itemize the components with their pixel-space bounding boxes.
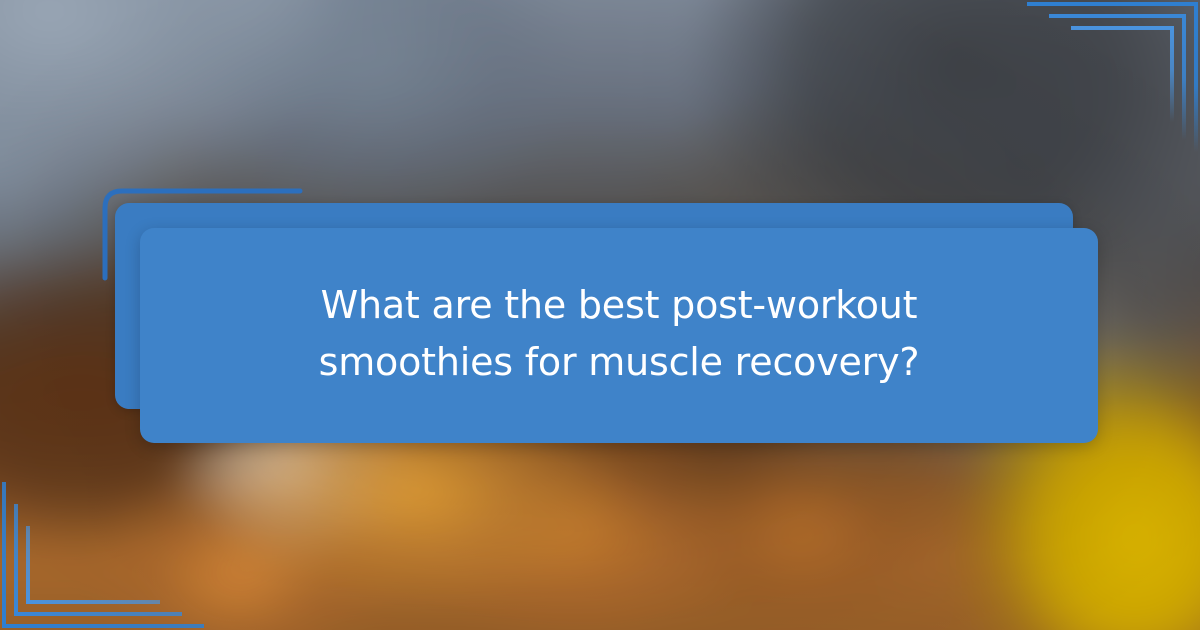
headline-card: What are the best post-workout smoothies…: [140, 228, 1098, 443]
promo-card-canvas: What are the best post-workout smoothies…: [0, 0, 1200, 630]
headline-text: What are the best post-workout smoothies…: [239, 277, 999, 389]
